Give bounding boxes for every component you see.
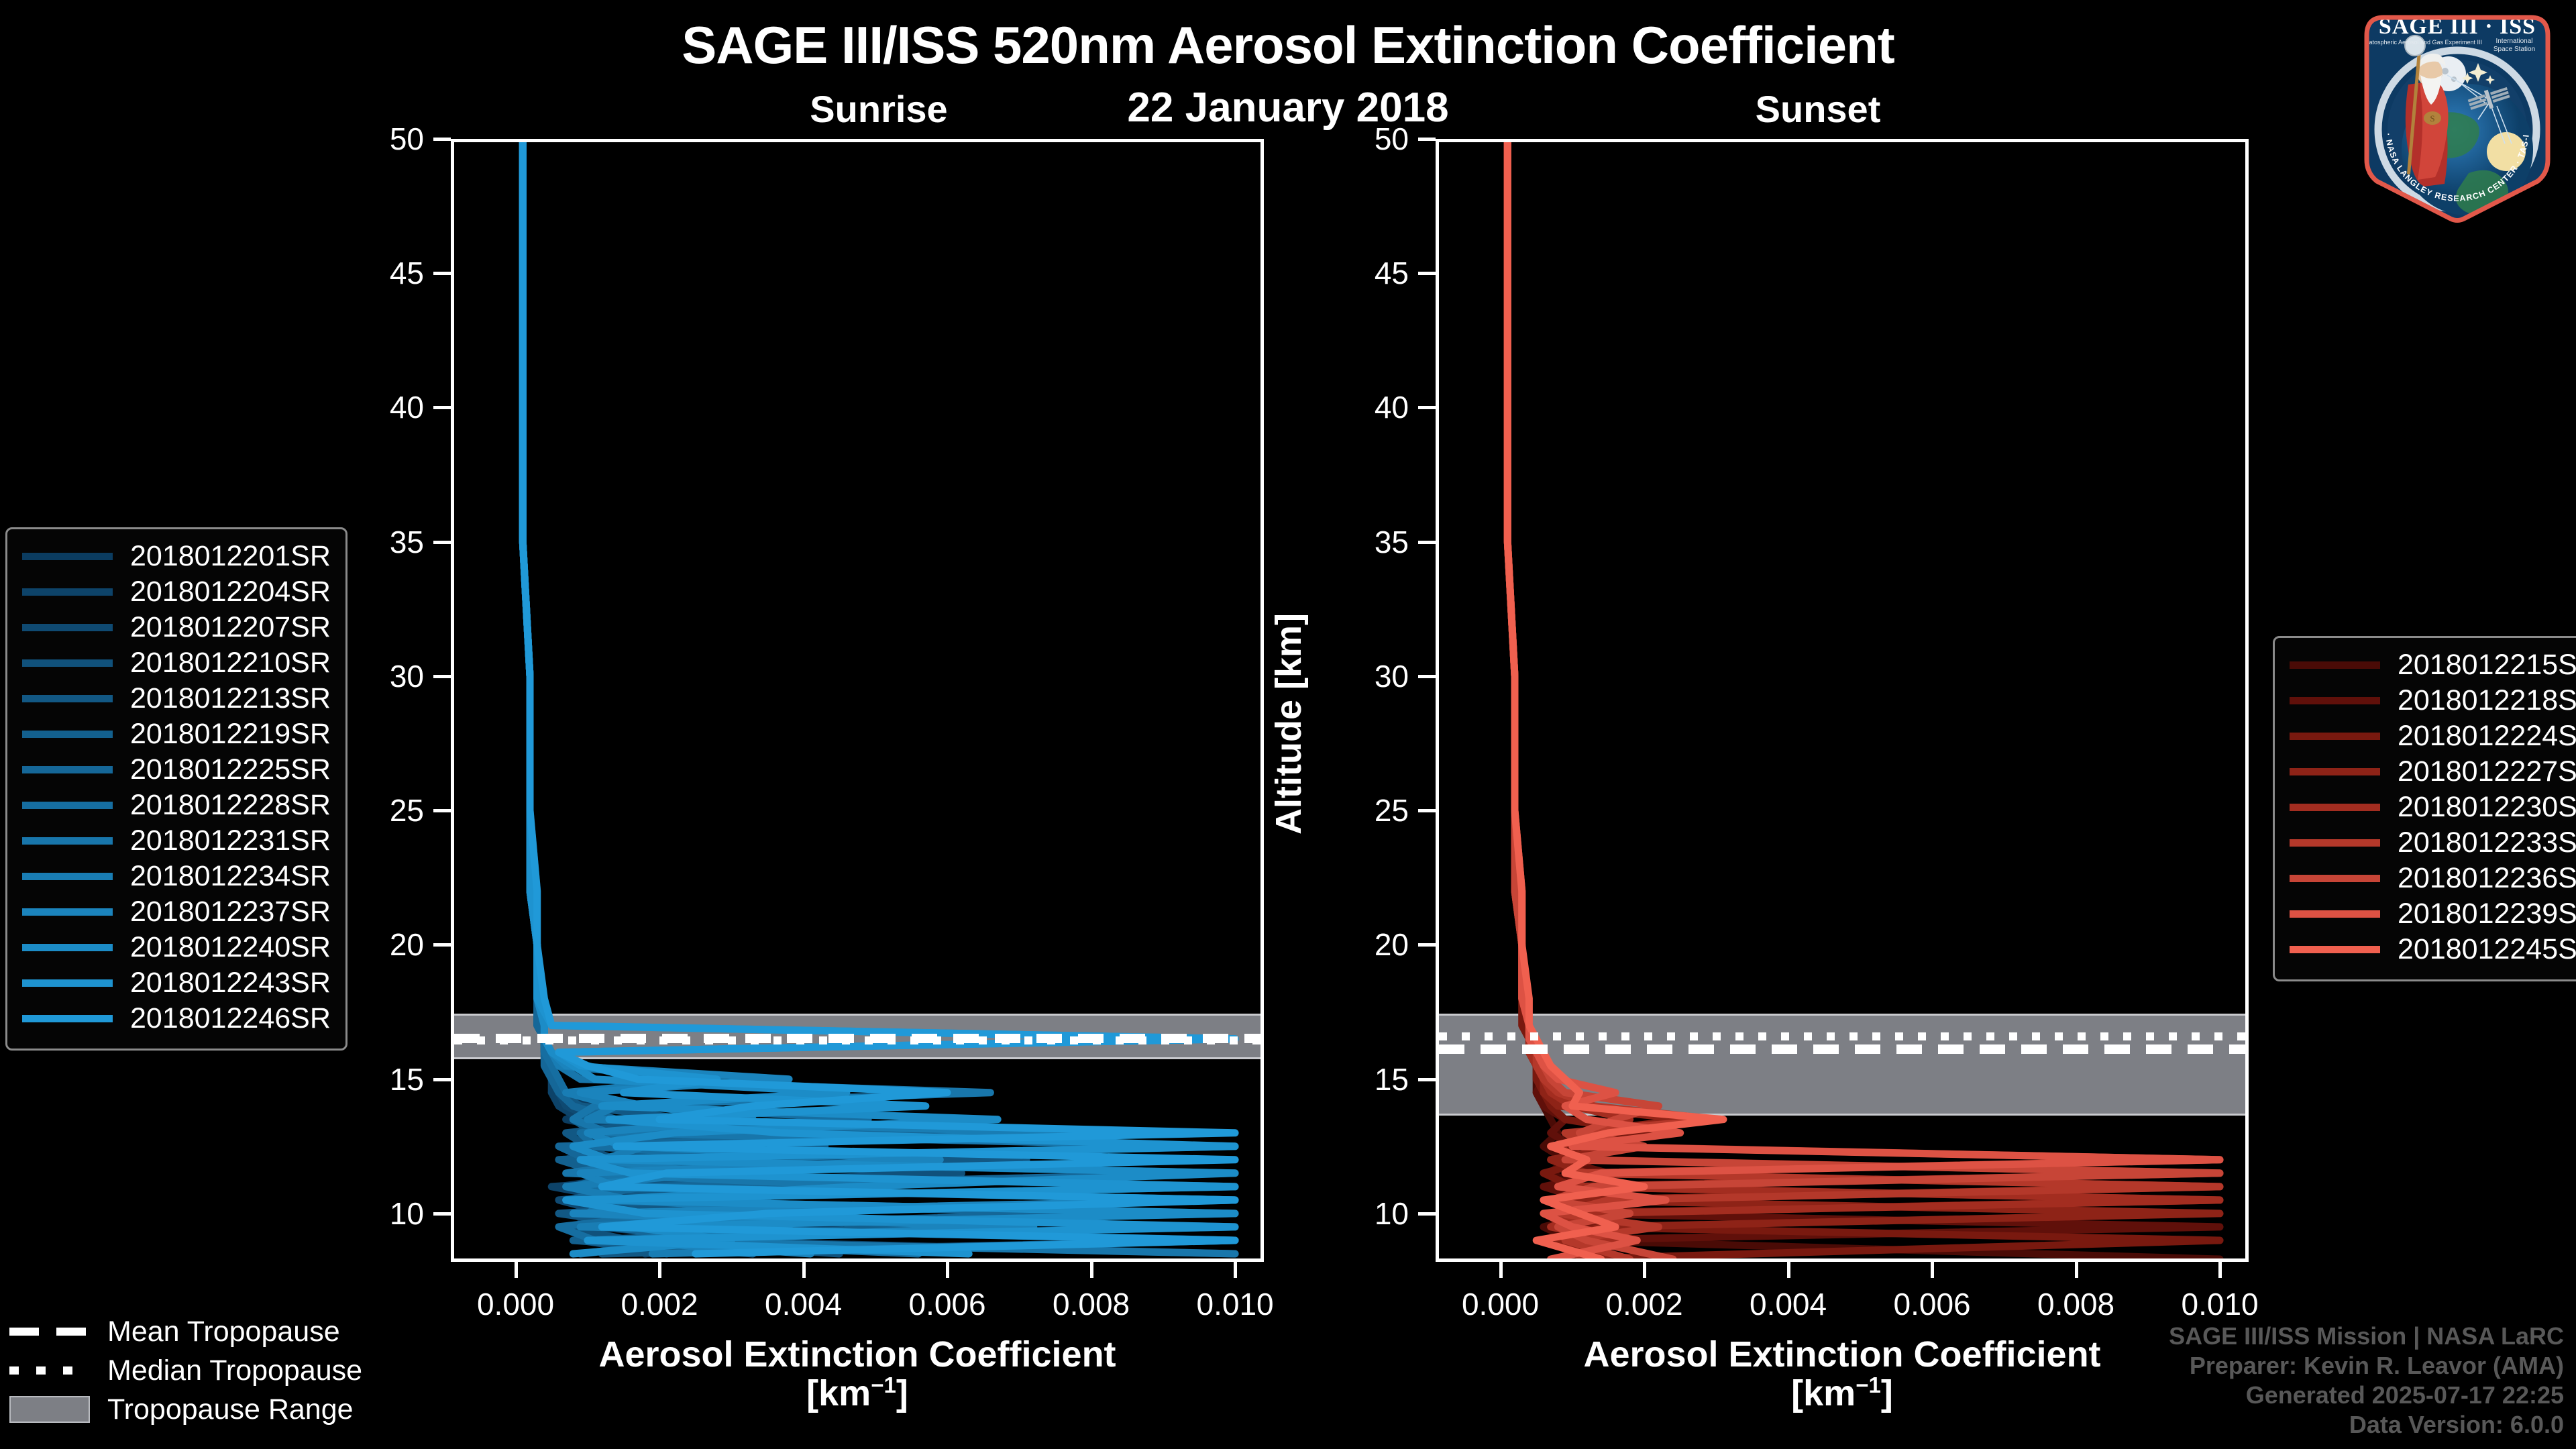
x-axis-tick-label: 0.006 xyxy=(1855,1286,2009,1322)
y-axis-tick-label: 15 xyxy=(1308,1061,1409,1097)
legend-sunrise-item[interactable]: 2018012237SR xyxy=(22,894,331,930)
y-axis-tick xyxy=(1418,675,1436,678)
legend-tropopause-item[interactable]: Median Tropopause xyxy=(9,1351,362,1390)
sage-iii-iss-mission-patch-logo: S SAGE III · ISS Stratospheric Aerosol a… xyxy=(2347,5,2568,227)
profile-curves xyxy=(1436,139,2249,1262)
legend-tropopause-item[interactable]: Tropopause Range xyxy=(9,1390,362,1429)
y-axis-tick-label: 45 xyxy=(323,255,424,291)
figure-canvas: SAGE III/ISS 520nm Aerosol Extinction Co… xyxy=(0,0,2576,1449)
svg-text:Stratospheric Aerosol and Gas: Stratospheric Aerosol and Gas Experiment… xyxy=(2361,39,2482,46)
legend-color-swatch xyxy=(2290,661,2380,669)
legend-color-swatch xyxy=(22,624,113,631)
legend-sunset-item[interactable]: 2018012227SS xyxy=(2290,754,2576,790)
legend-item-label: 2018012245SS xyxy=(2398,933,2576,966)
legend-item-label: 2018012230SS xyxy=(2398,791,2576,824)
legend-sunrise-item[interactable]: 2018012204SR xyxy=(22,574,331,610)
x-axis-tick-label: 0.004 xyxy=(1711,1286,1866,1322)
y-axis-tick xyxy=(433,675,451,678)
y-axis-label: Altitude [km] xyxy=(1268,613,1309,835)
x-axis-tick-label: 0.010 xyxy=(1158,1286,1312,1322)
page-title: SAGE III/ISS 520nm Aerosol Extinction Co… xyxy=(0,15,2576,76)
x-axis-tick xyxy=(1499,1262,1503,1278)
plot-area-sunrise xyxy=(451,139,1264,1262)
y-axis-tick-label: 10 xyxy=(323,1195,424,1232)
y-axis-tick-label: 10 xyxy=(1308,1195,1409,1232)
legend-tropopause-item[interactable]: Mean Tropopause xyxy=(9,1312,362,1351)
x-axis-label: Aerosol Extinction Coefficient[km−1] xyxy=(451,1336,1264,1413)
legend-color-swatch xyxy=(22,659,113,667)
credits-line: Generated 2025-07-17 22:25 xyxy=(2169,1381,2564,1410)
profile-line xyxy=(1507,139,2220,1259)
panel-label-sunset: Sunset xyxy=(1717,87,1919,131)
x-axis-tick xyxy=(658,1262,661,1278)
profile-curves xyxy=(451,139,1264,1262)
legend-item-label: 2018012215SS xyxy=(2398,649,2576,682)
credits-line: SAGE III/ISS Mission | NASA LaRC xyxy=(2169,1322,2564,1351)
legend-item-label: 2018012224SS xyxy=(2398,720,2576,753)
legend-item-label: 2018012233SS xyxy=(2398,826,2576,859)
svg-text:S: S xyxy=(2430,113,2434,123)
legend-sunset-item[interactable]: 2018012230SS xyxy=(2290,790,2576,825)
legend-item-label: 2018012219SR xyxy=(130,718,331,751)
tropopause-line-swatch xyxy=(9,1366,90,1375)
legend-color-swatch xyxy=(2290,768,2380,775)
x-axis-tick xyxy=(1787,1262,1790,1278)
legend-item-label: 2018012227SS xyxy=(2398,755,2576,788)
legend-color-swatch xyxy=(22,588,113,596)
legend-item-label: 2018012210SR xyxy=(130,647,331,680)
credits-line: Data Version: 6.0.0 xyxy=(2169,1410,2564,1440)
legend-color-swatch xyxy=(2290,910,2380,918)
median-tropopause-line xyxy=(1439,1032,2245,1040)
legend-color-swatch xyxy=(2290,946,2380,953)
y-axis-tick-label: 40 xyxy=(323,389,424,425)
x-axis-tick xyxy=(1234,1262,1237,1278)
legend-color-swatch xyxy=(22,873,113,880)
legend-sunrise-item[interactable]: 2018012240SR xyxy=(22,930,331,965)
legend-item-label: 2018012234SR xyxy=(130,860,331,893)
y-axis-tick xyxy=(433,406,451,409)
x-axis-tick-label: 0.008 xyxy=(1014,1286,1169,1322)
legend-color-swatch xyxy=(22,908,113,916)
legend-sunset-item[interactable]: 2018012215SS xyxy=(2290,647,2576,683)
y-axis-tick xyxy=(433,943,451,947)
legend-color-swatch xyxy=(2290,875,2380,882)
legend-item-label: 2018012213SR xyxy=(130,682,331,715)
legend-sunrise-item[interactable]: 2018012231SR xyxy=(22,823,331,859)
legend-item-label: Mean Tropopause xyxy=(107,1316,340,1348)
y-axis-tick-label: 50 xyxy=(1308,121,1409,157)
x-axis-label-units: [km−1] xyxy=(451,1374,1264,1413)
legend-color-swatch xyxy=(22,802,113,809)
legend-item-label: 2018012225SR xyxy=(130,753,331,786)
legend-item-label: 2018012236SS xyxy=(2398,862,2576,895)
legend-color-swatch xyxy=(22,1015,113,1022)
legend-sunset-item[interactable]: 2018012224SS xyxy=(2290,718,2576,754)
x-axis-tick-label: 0.002 xyxy=(582,1286,737,1322)
y-axis-tick xyxy=(1418,809,1436,812)
y-axis-tick-label: 25 xyxy=(1308,792,1409,828)
panel-label-sunrise: Sunrise xyxy=(778,87,979,131)
legend-item-label: 2018012218SS xyxy=(2398,684,2576,717)
credits-block: SAGE III/ISS Mission | NASA LaRCPreparer… xyxy=(2169,1322,2564,1440)
legend-sunrise-item[interactable]: 2018012246SR xyxy=(22,1001,331,1036)
legend-sunset-item[interactable]: 2018012218SS xyxy=(2290,683,2576,718)
x-axis-tick-label: 0.004 xyxy=(727,1286,881,1322)
legend-color-swatch xyxy=(22,979,113,987)
credits-line: Preparer: Kevin R. Leavor (AMA) xyxy=(2169,1351,2564,1381)
legend-color-swatch xyxy=(2290,733,2380,740)
mean-tropopause-line xyxy=(1439,1044,2245,1054)
svg-text:Space Station: Space Station xyxy=(2493,46,2535,53)
legend-sunrise-item[interactable]: 2018012210SR xyxy=(22,645,331,681)
x-axis-tick-label: 0.010 xyxy=(2143,1286,2297,1322)
x-axis-tick xyxy=(1090,1262,1093,1278)
y-axis-tick-label: 40 xyxy=(1308,389,1409,425)
y-axis-tick xyxy=(433,541,451,544)
y-axis-tick-label: 50 xyxy=(323,121,424,157)
y-axis-tick-label: 35 xyxy=(1308,524,1409,560)
y-axis-tick xyxy=(433,1078,451,1081)
x-axis-tick xyxy=(1931,1262,1934,1278)
x-axis-tick-label: 0.000 xyxy=(439,1286,593,1322)
x-axis-tick xyxy=(802,1262,806,1278)
x-axis-label-line1: Aerosol Extinction Coefficient xyxy=(1436,1336,2249,1374)
legend-sunrise-item[interactable]: 2018012234SR xyxy=(22,859,331,894)
legend-item-label: 2018012246SR xyxy=(130,1002,331,1035)
legend-sunrise-item[interactable]: 2018012243SR xyxy=(22,965,331,1001)
x-axis-tick-label: 0.008 xyxy=(1999,1286,2153,1322)
legend-tropopause[interactable]: Mean TropopauseMedian TropopauseTropopau… xyxy=(9,1312,362,1429)
legend-sunrise-item[interactable]: 2018012207SR xyxy=(22,610,331,645)
legend-item-label: 2018012201SR xyxy=(130,540,331,573)
y-axis-tick-label: 15 xyxy=(323,1061,424,1097)
legend-item-label: 2018012231SR xyxy=(130,824,331,857)
y-axis-tick xyxy=(433,809,451,812)
y-axis-tick-label: 30 xyxy=(1308,658,1409,694)
y-axis-tick xyxy=(1418,1212,1436,1216)
legend-color-swatch xyxy=(2290,839,2380,847)
y-axis-tick xyxy=(1418,138,1436,141)
legend-color-swatch xyxy=(2290,697,2380,704)
legend-sunset-item[interactable]: 2018012236SS xyxy=(2290,861,2576,896)
y-axis-tick xyxy=(1418,943,1436,947)
x-axis-tick xyxy=(2075,1262,2078,1278)
legend-item-label: 2018012237SR xyxy=(130,896,331,928)
x-axis-tick-label: 0.002 xyxy=(1567,1286,1721,1322)
legend-sunrise[interactable]: 2018012201SR2018012204SR2018012207SR2018… xyxy=(5,527,347,1051)
legend-color-swatch xyxy=(22,944,113,951)
legend-item-label: 2018012207SR xyxy=(130,611,331,644)
legend-sunrise-item[interactable]: 2018012213SR xyxy=(22,681,331,716)
y-axis-tick xyxy=(1418,541,1436,544)
y-axis-tick xyxy=(1418,272,1436,275)
legend-sunrise-item[interactable]: 2018012201SR xyxy=(22,539,331,574)
legend-sunset-item[interactable]: 2018012239SS xyxy=(2290,896,2576,932)
x-axis-tick-label: 0.006 xyxy=(870,1286,1024,1322)
legend-item-label: 2018012228SR xyxy=(130,789,331,822)
legend-sunset-item[interactable]: 2018012245SS xyxy=(2290,932,2576,967)
legend-sunset[interactable]: 2018012215SS2018012218SS2018012224SS2018… xyxy=(2273,636,2576,981)
y-axis-tick xyxy=(1418,1078,1436,1081)
legend-color-swatch xyxy=(22,731,113,738)
legend-color-swatch xyxy=(2290,804,2380,811)
legend-sunrise-item[interactable]: 2018012219SR xyxy=(22,716,331,752)
tropopause-line-swatch xyxy=(9,1328,90,1336)
legend-item-label: 2018012204SR xyxy=(130,576,331,608)
x-axis-label: Aerosol Extinction Coefficient[km−1] xyxy=(1436,1336,2249,1413)
svg-text:International: International xyxy=(2495,38,2532,45)
legend-item-label: 2018012239SS xyxy=(2398,898,2576,930)
tropopause-range-swatch xyxy=(9,1396,90,1423)
legend-sunrise-item[interactable]: 2018012225SR xyxy=(22,752,331,788)
mean-tropopause-line xyxy=(454,1034,1260,1043)
plot-area-sunset xyxy=(1436,139,2249,1262)
x-axis-label-line1: Aerosol Extinction Coefficient xyxy=(451,1336,1264,1374)
legend-item-label: Median Tropopause xyxy=(107,1354,362,1387)
x-axis-tick xyxy=(946,1262,949,1278)
x-axis-tick xyxy=(515,1262,518,1278)
legend-color-swatch xyxy=(22,837,113,845)
legend-item-label: Tropopause Range xyxy=(107,1393,354,1426)
legend-color-swatch xyxy=(22,695,113,702)
y-axis-tick xyxy=(1418,406,1436,409)
legend-sunset-item[interactable]: 2018012233SS xyxy=(2290,825,2576,861)
y-axis-tick xyxy=(433,138,451,141)
legend-item-label: 2018012243SR xyxy=(130,967,331,1000)
x-axis-tick-label: 0.000 xyxy=(1424,1286,1578,1322)
legend-sunrise-item[interactable]: 2018012228SR xyxy=(22,788,331,823)
legend-color-swatch xyxy=(22,553,113,560)
legend-item-label: 2018012240SR xyxy=(130,931,331,964)
y-axis-tick xyxy=(433,272,451,275)
legend-color-swatch xyxy=(22,766,113,773)
x-axis-tick xyxy=(2218,1262,2222,1278)
x-axis-label-units: [km−1] xyxy=(1436,1374,2249,1413)
y-axis-tick xyxy=(433,1212,451,1216)
y-axis-tick-label: 20 xyxy=(1308,926,1409,963)
y-axis-tick-label: 45 xyxy=(1308,255,1409,291)
x-axis-tick xyxy=(1643,1262,1646,1278)
